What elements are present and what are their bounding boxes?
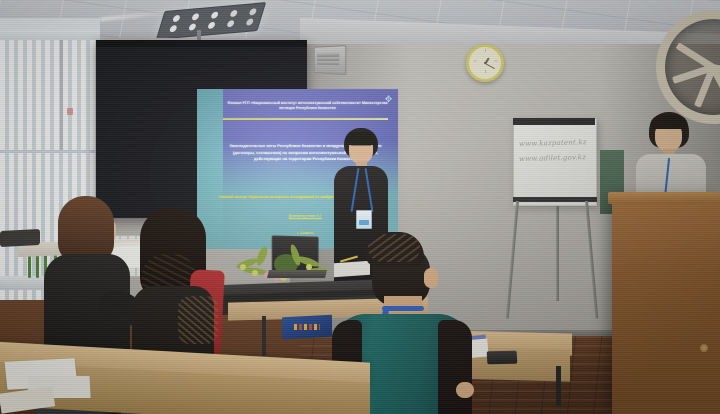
- clock-mark: [474, 61, 477, 62]
- slide-divider-rule: [223, 118, 388, 120]
- attendee-hair: [58, 196, 114, 262]
- podium-top-surface: [608, 192, 720, 204]
- flipchart-line-2: www.adilet.gov.kz: [519, 150, 593, 167]
- attendee-hand: [456, 382, 474, 398]
- folder-graphic: [294, 324, 320, 330]
- flower-bud: [252, 270, 258, 276]
- attendee-ear: [424, 268, 438, 288]
- podium-emblem-icon: [700, 344, 708, 352]
- wheel-spoke: [676, 42, 717, 71]
- conference-room-photo: ✥ Филиал РГП «Национальный институт инте…: [0, 0, 720, 414]
- flipchart-leg: [556, 201, 559, 301]
- mid-desk-leg: [262, 316, 266, 356]
- screen-top-bar: [96, 40, 307, 47]
- attendee-braid: [368, 234, 420, 262]
- wall-clock: [466, 44, 504, 82]
- flipchart-clip: [513, 118, 595, 125]
- clock-mark: [485, 49, 486, 52]
- clock-mark: [485, 70, 486, 73]
- flower-bud: [240, 264, 246, 270]
- slide-header-text: Филиал РГП «Национальный институт интелл…: [223, 101, 392, 112]
- clock-minute-hand: [485, 63, 495, 69]
- jacket-lace-pattern: [178, 296, 218, 344]
- window-top-rail: [0, 30, 100, 40]
- projection-screen: ✥ Филиал РГП «Национальный институт инте…: [96, 40, 307, 218]
- bag-on-desk: [0, 229, 40, 247]
- remote-control[interactable]: [487, 351, 518, 365]
- laptop-keyboard[interactable]: [267, 270, 327, 278]
- right-desk-leg: [556, 366, 561, 406]
- flower-stem: [255, 245, 270, 267]
- presenter-fringe: [345, 132, 377, 145]
- clock-mark: [495, 61, 498, 62]
- presenter-id-badge: [356, 210, 372, 229]
- glasses-icon: [351, 145, 371, 150]
- air-conditioner-unit: [314, 45, 346, 75]
- podium: [612, 196, 720, 414]
- presenter-fringe: [650, 115, 688, 129]
- window-sticker: [67, 108, 73, 115]
- window-frame-vertical: [60, 40, 63, 150]
- attendee-sleeve: [438, 320, 472, 414]
- window-frame-horizontal: [0, 150, 96, 153]
